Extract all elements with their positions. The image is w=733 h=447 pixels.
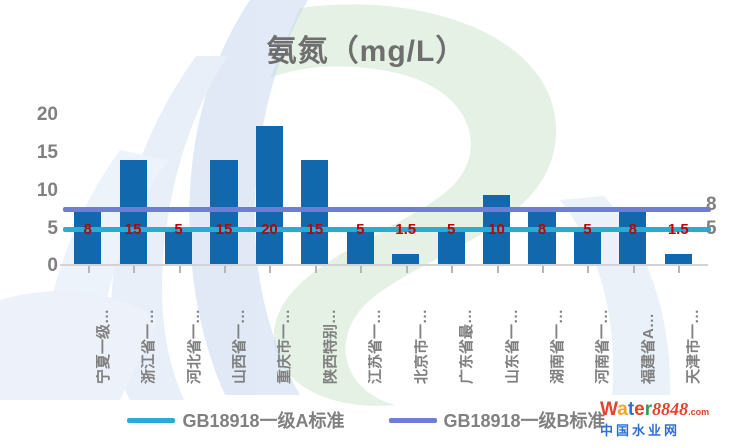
- bars-layer: [65, 112, 701, 264]
- y-tick-label-10: 10: [14, 181, 58, 200]
- bar: [619, 209, 646, 264]
- x-axis-category-label: 宁夏一级…: [96, 268, 112, 384]
- bar: [165, 229, 192, 264]
- watermark-number: 8848: [652, 399, 688, 419]
- bar: [256, 126, 283, 264]
- bar: [574, 229, 601, 264]
- bar: [528, 209, 555, 264]
- site-watermark: Water8848.com 中国水业网: [600, 399, 730, 445]
- x-axis-line: [60, 264, 708, 266]
- chart-screenshot: 氨氮（mg/L） 20 15 10 5 0 8 5 815515201551.5…: [0, 0, 733, 447]
- watermark-domain: .com: [688, 407, 709, 417]
- bar: [210, 160, 237, 264]
- bar: [301, 160, 328, 264]
- x-axis-category-label: 江苏省一…: [368, 268, 384, 384]
- x-axis-category-labels: 宁夏一级…浙江省一…河北省一…山西省一…重庆市一…陕西特别…江苏省一…北京市一……: [0, 268, 733, 388]
- watermark-brand: Water8848.com: [600, 399, 730, 422]
- bar: [120, 160, 147, 264]
- x-axis-category-label: 山西省一…: [232, 268, 248, 384]
- x-axis-category-label: 广东省最…: [459, 268, 475, 384]
- watermark-subtitle: 中国水业网: [600, 422, 730, 440]
- reference-line: [63, 227, 711, 232]
- watermark-letter-a: a: [617, 399, 628, 420]
- watermark-letter-e: e: [634, 399, 645, 420]
- legend-swatch-b: [389, 418, 437, 423]
- y-tick-label-15: 15: [14, 143, 58, 162]
- x-axis-category-label: 重庆市一…: [277, 268, 293, 384]
- legend-item-b[interactable]: GB18918一级B标准: [389, 407, 606, 433]
- watermark-letter-w: W: [600, 399, 617, 420]
- y-tick-label-5: 5: [14, 219, 58, 238]
- x-axis-category-label: 浙江省一…: [141, 268, 157, 384]
- y-tick-label-20: 20: [14, 105, 58, 124]
- x-axis-category-label: 山东省一…: [505, 268, 521, 384]
- x-axis-category-label: 湖南省一…: [550, 268, 566, 384]
- y-axis: 20 15 10 5 0: [0, 0, 58, 447]
- bar: [392, 254, 419, 264]
- legend-label-b: GB18918一级B标准: [444, 407, 606, 433]
- x-axis-category-label: 福建省A…: [641, 268, 657, 384]
- y-tick-label-0: 0: [14, 256, 58, 275]
- bar: [347, 229, 374, 264]
- bar: [665, 254, 692, 264]
- bar: [74, 209, 101, 264]
- reference-line: [63, 207, 711, 212]
- legend-label-a: GB18918一级A标准: [182, 407, 344, 433]
- reference-line-edge-label-b: 8: [706, 195, 717, 214]
- x-axis-category-label: 河南省一…: [595, 268, 611, 384]
- legend-item-a[interactable]: GB18918一级A标准: [127, 407, 344, 433]
- watermark-letter-r: r: [645, 399, 652, 420]
- x-axis-category-label: 河北省一…: [187, 268, 203, 384]
- x-axis-category-label: 北京市一…: [414, 268, 430, 384]
- legend-swatch-a: [127, 418, 175, 423]
- reference-line-edge-label-a: 5: [706, 219, 717, 238]
- x-axis-category-label: 天津市一…: [686, 268, 702, 384]
- bar: [438, 229, 465, 264]
- plot-area: [65, 112, 701, 264]
- x-axis-category-label: 陕西特别…: [323, 268, 339, 384]
- chart-title: 氨氮（mg/L）: [0, 26, 733, 70]
